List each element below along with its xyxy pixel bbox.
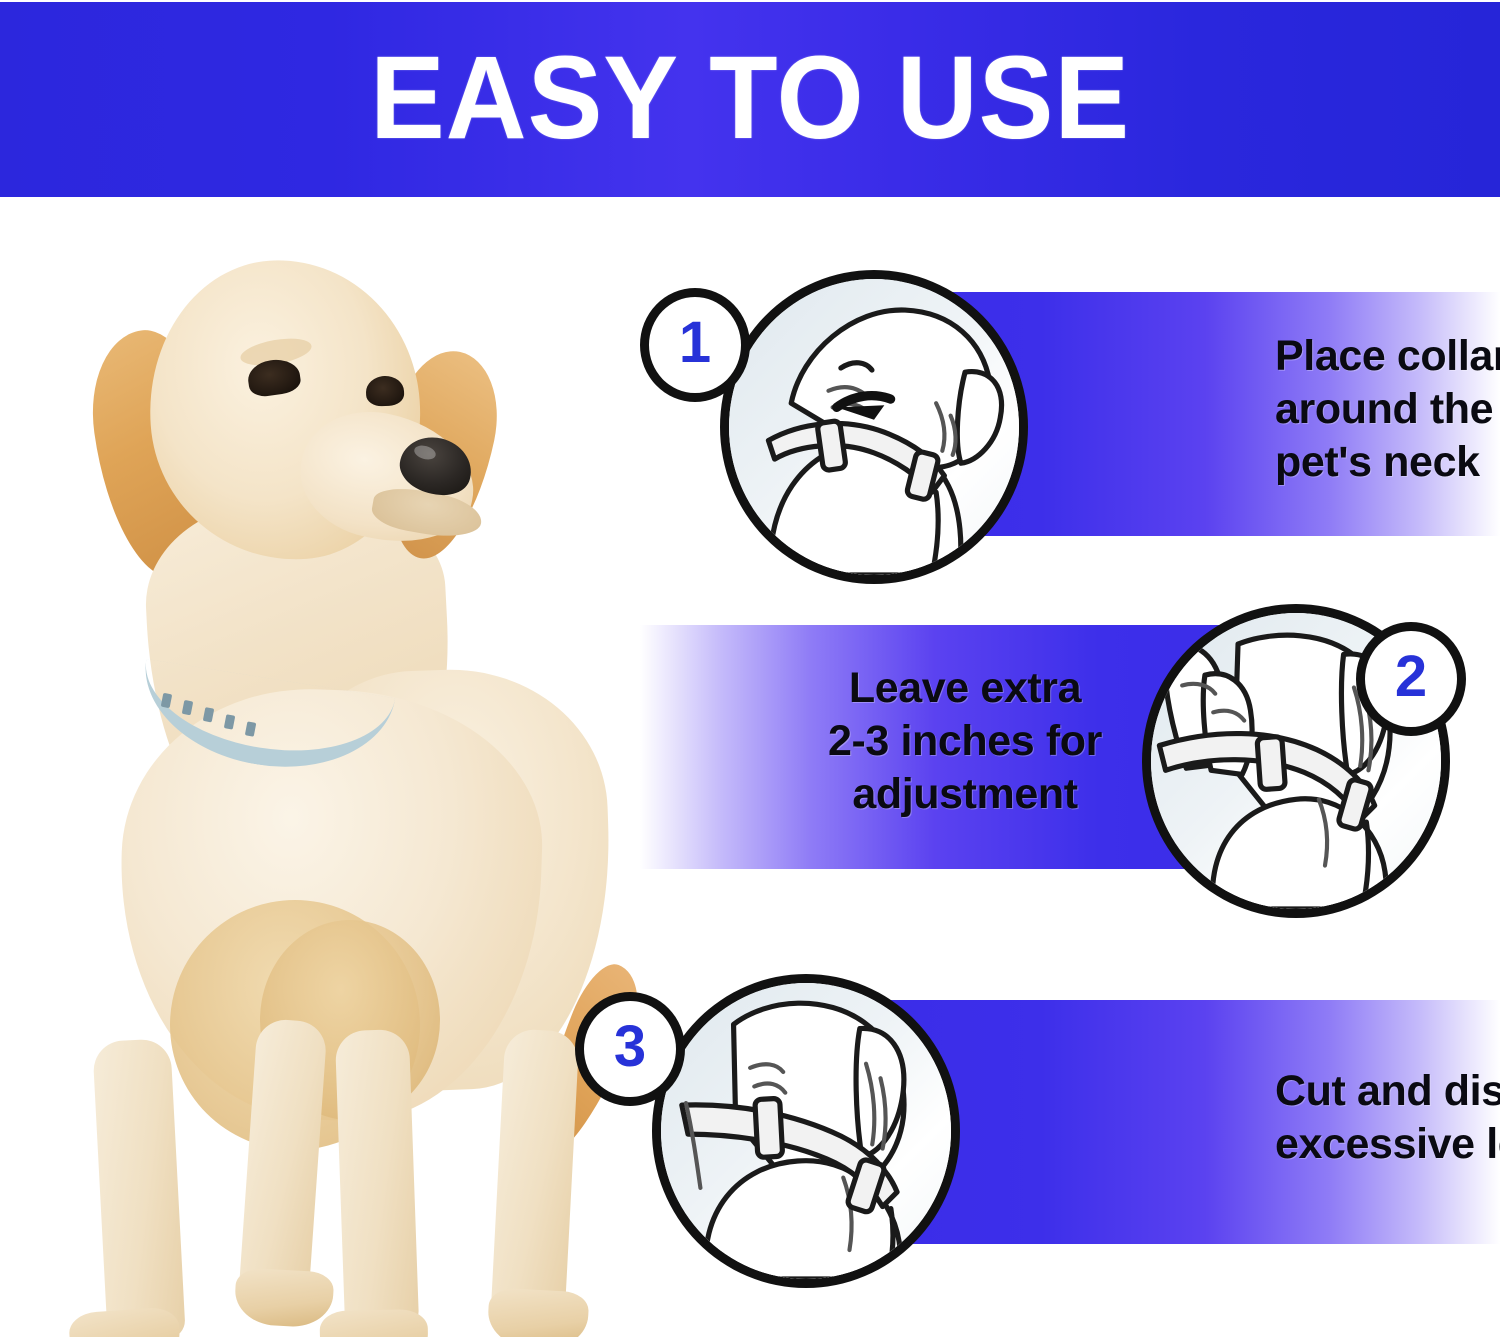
step-2-number-badge: 2: [1356, 622, 1466, 736]
dog-paw-back-left: [319, 1309, 428, 1337]
dog-eye-right: [365, 375, 404, 406]
dog-leg-back-left: [335, 1029, 419, 1331]
step-row-2: Leave extra 2-3 inches for adjustment: [620, 600, 1500, 910]
dog-head-collar-icon: [729, 279, 1019, 575]
dog-paw-front-left: [68, 1306, 182, 1337]
trimmed-collar-icon: [661, 983, 951, 1279]
step-1-number-badge: 1: [640, 288, 750, 402]
step-1-illustration-circle: [720, 270, 1028, 584]
dog-leg-back-right: [490, 1028, 579, 1321]
step-3-caption: Cut and dispose excessive length: [1275, 1065, 1500, 1171]
step-2-caption: Leave extra 2-3 inches for adjustment: [805, 662, 1125, 821]
step-1-caption: Place collar around the pet's neck: [1275, 330, 1500, 489]
step-3-illustration-circle: [652, 974, 960, 1288]
dog-paw-back-right: [487, 1287, 590, 1337]
dog-illustration: [0, 200, 660, 1337]
dog-paw-front-right: [234, 1267, 335, 1328]
product-photo: [0, 200, 660, 1337]
page-title: EASY TO USE: [38, 39, 1463, 157]
step-3-number-badge: 3: [575, 992, 685, 1106]
dog-leg-front-left: [92, 1038, 186, 1337]
infographic-page: EASY TO USE: [0, 0, 1500, 1337]
header-banner: EASY TO USE: [0, 2, 1500, 197]
step-row-1: Place collar around the pet's neck: [620, 270, 1500, 570]
step-row-3: Cut and dispose excessive length: [620, 960, 1500, 1270]
